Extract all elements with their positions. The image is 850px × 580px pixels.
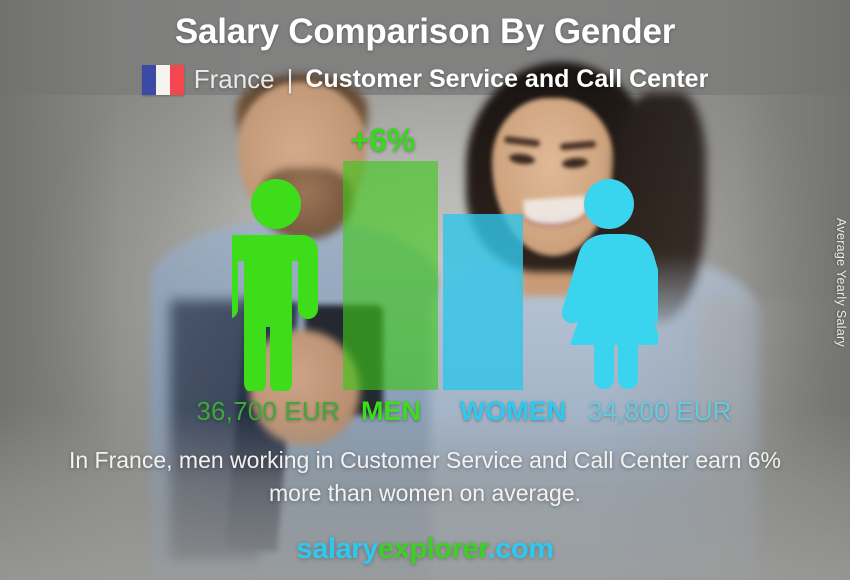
brand-part-explorer: explorer (378, 533, 488, 565)
subtitle-divider: | (287, 64, 294, 95)
brand-part-domain: .com (488, 533, 554, 565)
female-figure-icon (560, 178, 658, 391)
flag-stripe-blue (142, 65, 156, 95)
france-flag-icon (142, 65, 184, 95)
bar-women (443, 214, 523, 390)
bar-men (343, 161, 438, 390)
job-title-label: Customer Service and Call Center (305, 65, 708, 94)
caption-text: In France, men working in Customer Servi… (0, 444, 850, 510)
women-category-label: WOMEN (443, 396, 583, 427)
men-salary-value: 36,700 EUR (150, 396, 340, 427)
brand-part-salary: salary (296, 533, 377, 565)
flag-stripe-red (170, 65, 184, 95)
percent-difference-badge: +6% (318, 122, 448, 159)
y-axis-label: Average Yearly Salary (834, 218, 848, 347)
chart-labels-row: 36,700 EUR MEN WOMEN 34,800 EUR (0, 396, 850, 430)
women-salary-value: 34,800 EUR (588, 396, 778, 427)
page-title: Salary Comparison By Gender (0, 12, 850, 52)
country-label: France (194, 64, 275, 95)
flag-stripe-white (156, 65, 170, 95)
male-figure-icon (232, 178, 320, 391)
subtitle-bar: France | Customer Service and Call Cente… (0, 64, 850, 95)
men-category-label: MEN (345, 396, 437, 427)
site-brand-footer[interactable]: salaryexplorer.com (0, 533, 850, 566)
